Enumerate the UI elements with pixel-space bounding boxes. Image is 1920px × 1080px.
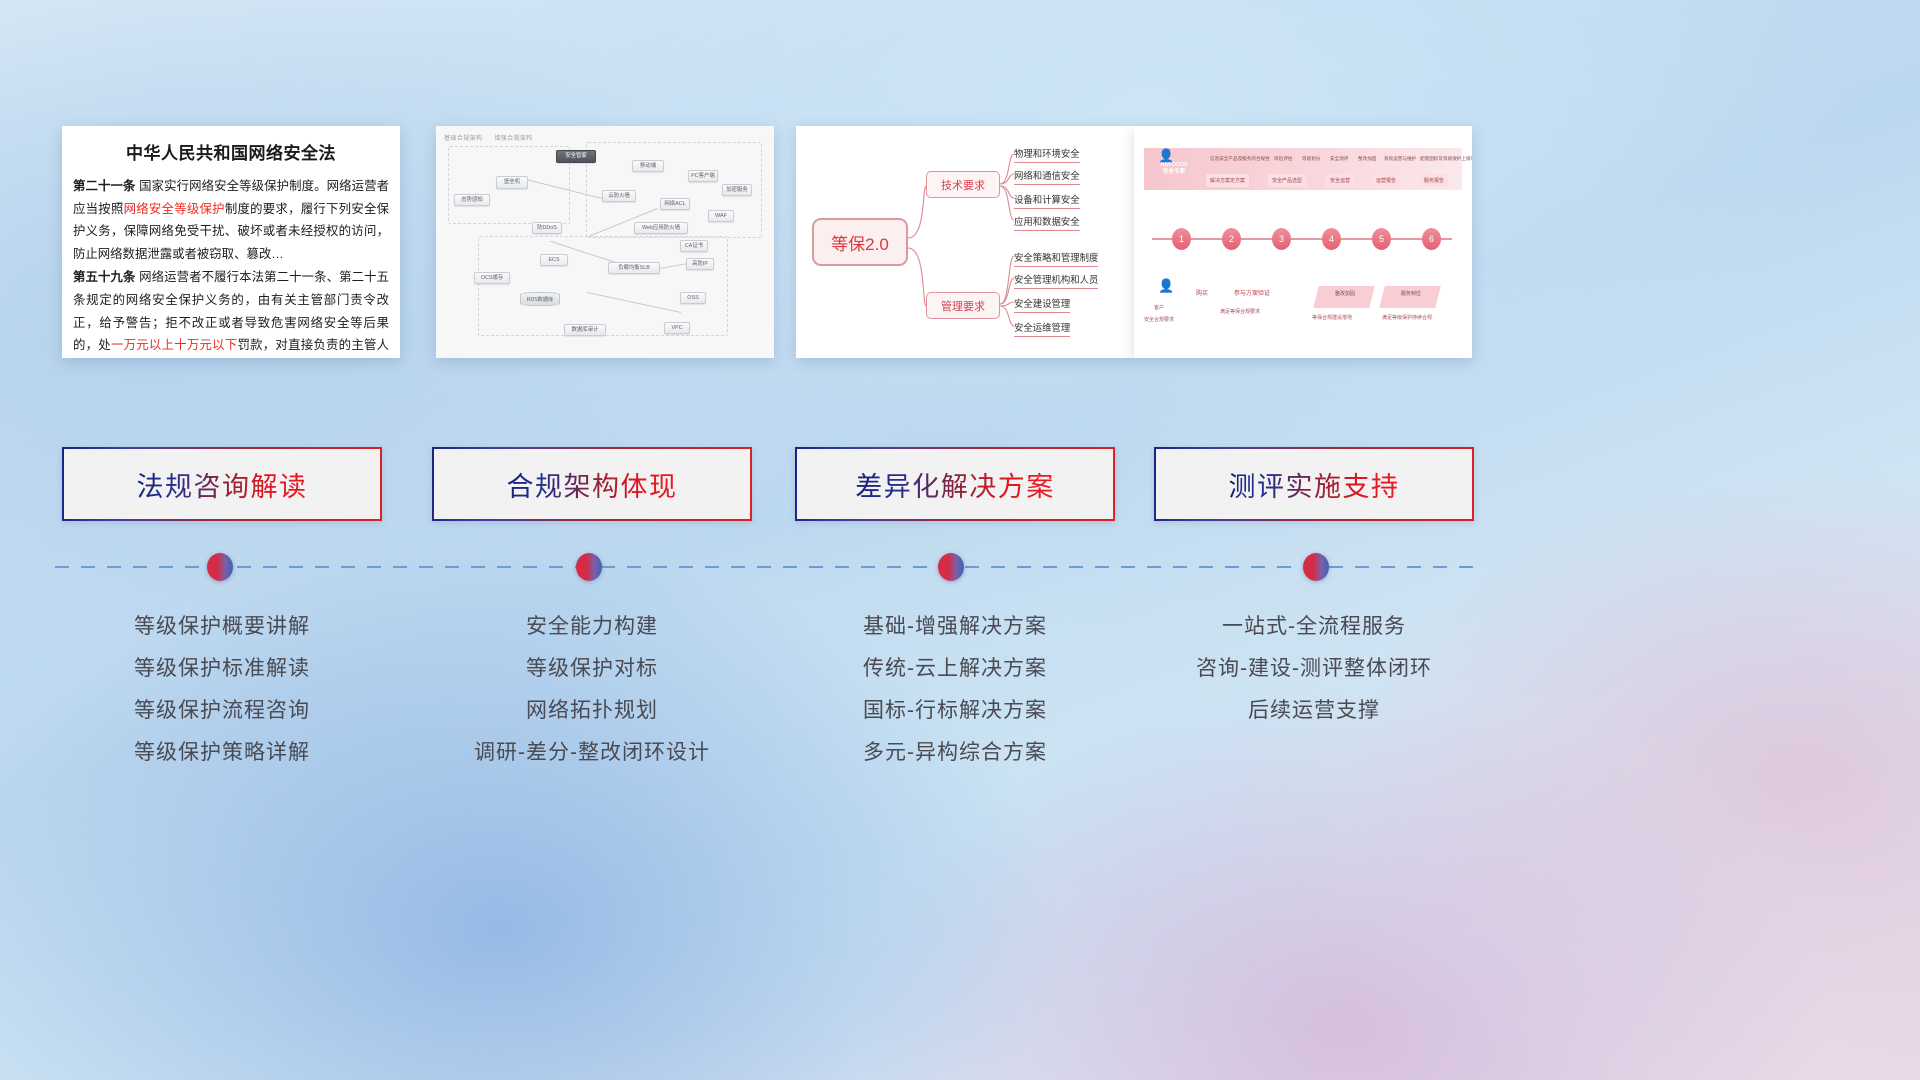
detail-item: 等级保护概要讲解 [42,606,402,648]
timeline-dot-4[interactable] [1303,553,1329,581]
headline-label-2: 差异化解决方案 [855,465,1055,504]
roadmap-action-rectify: 整改加固 [1317,286,1373,301]
arch-node-anti-ddos-ip: 高防IP [686,258,714,270]
article-21-highlight: 网络安全等级保护 [124,202,225,216]
mindmap-leaf-physical: 物理和环境安全 [1014,146,1080,163]
detail-column-4: 一站式-全流程服务 咨询-建设-测评整体闭环 后续运营支撑 [1134,606,1494,732]
customer-person-icon: 👤 [1158,278,1174,294]
mindmap-leaf-ops: 安全运维管理 [1014,320,1070,337]
detail-item: 国标-行标解决方案 [775,690,1135,732]
roadmap-action-participate: 参与方案验证 [1234,288,1270,297]
detail-item: 传统-云上解决方案 [775,648,1135,690]
detail-item: 等级保护流程咨询 [42,690,402,732]
detail-item: 调研-差分-整改闭环设计 [412,732,772,774]
arch-node-rds: RDS数据库 [520,292,560,306]
detail-item: 一站式-全流程服务 [1134,606,1494,648]
timeline-dot-1[interactable] [207,553,233,581]
roadmap-step-5: 5 [1372,228,1391,250]
roadmap-step-3: 3 [1272,228,1291,250]
arch-node-mobile: 移动端 [632,160,664,172]
roadmap-diagram: 👤 NSFOCUS 安全专家 信息安全产品及服务的合规性 风险评估 等级划分 安… [1134,126,1472,358]
arch-node-db-audit: 数据库审计 [564,324,606,336]
arch-node-slb: 负载均衡SLB [608,262,660,274]
detail-item: 咨询-建设-测评整体闭环 [1134,648,1494,690]
timeline-dashed-line [55,566,1485,568]
band-label-1: 增强合规架构 [494,136,532,142]
headline-label-0: 法规咨询解读 [137,465,308,504]
reference-cards-row: 中华人民共和国网络安全法 第二十一条 国家实行网络安全等级保护制度。网络运营者应… [0,126,1920,362]
roadmap-bottom-right-sub-1: 满足等级保护持续合规 [1382,314,1432,321]
roadmap-para-rectify: 整改加固 [1313,286,1374,308]
nsfocus-logo-name: NSFOCUS [1160,162,1187,169]
roadmap-axis [1152,238,1452,240]
headline-box-differentiated-solution[interactable]: 差异化解决方案 [795,447,1115,521]
law-body: 第二十一条 国家实行网络安全等级保护制度。网络运营者应当按照网络安全等级保护制度… [73,175,389,358]
roadmap-action-service: 服务到位 [1383,286,1439,301]
band-label-0: 基础合规架构 [444,136,482,142]
arch-node-cloud-firewall: 云防火墙 [602,190,636,202]
card-cloud-architecture[interactable]: 基础合规架构增强合规架构 安全管家 堡垒机 态势感知 网络ACL 云防火墙 WA… [436,126,774,358]
headline-label-3: 测评实施支持 [1229,465,1400,504]
mindmap-branch-technical: 技术要求 [926,171,1000,198]
roadmap-customer-sub: 安全合规要求 [1144,316,1174,323]
roadmap-step-1: 1 [1172,228,1191,250]
mindmap-diagram: 等保2.0 技术要求 管理要求 物理和环境安全 网络和通信安全 设备和计算安全 … [796,126,1134,358]
mindmap-leaf-network: 网络和通信安全 [1014,168,1080,185]
law-title: 中华人民共和国网络安全法 [62,139,400,164]
mindmap-leaf-device: 设备和计算安全 [1014,192,1080,209]
arch-node-situation: 态势感知 [454,194,490,206]
detail-item: 等级保护策略详解 [42,732,402,774]
roadmap-action-buy: 购买 [1196,288,1208,297]
headline-box-compliance-architecture[interactable]: 合规架构体现 [432,447,752,521]
arch-node-vpc: VPC [664,322,690,334]
headline-box-regulation-consulting[interactable]: 法规咨询解读 [62,447,382,521]
roadmap-phase-2: 安全运营 [1326,174,1354,187]
arch-node-bastion: 堡垒机 [496,176,528,189]
law-article-21: 第二十一条 国家实行网络安全等级保护制度。网络运营者应当按照网络安全等级保护制度… [73,175,389,265]
mindmap-root: 等保2.0 [812,218,908,266]
card-cybersecurity-law[interactable]: 中华人民共和国网络安全法 第二十一条 国家实行网络安全等级保护制度。网络运营者应… [62,126,400,358]
roadmap-top-label-6: 配套国标及等级保护上级单位的合规性 [1420,156,1472,162]
detail-item: 等级保护对标 [412,648,772,690]
detail-column-1: 等级保护概要讲解 等级保护标准解读 等级保护流程咨询 等级保护策略详解 [42,606,402,774]
roadmap-step-2: 2 [1222,228,1241,250]
law-article-59: 第五十九条 网络运营者不履行本法第二十一条、第二十五条规定的网络安全保护义务的，… [73,266,389,358]
architecture-band-labels: 基础合规架构增强合规架构 [444,133,545,142]
roadmap-bottom-left-sub: 满足等保合规要求 [1220,308,1260,315]
detail-column-2: 安全能力构建 等级保护对标 网络拓扑规划 调研-差分-整改闭环设计 [412,606,772,774]
roadmap-top-label-0: 信息安全产品及服务的合规性 [1210,156,1270,162]
roadmap-top-label-5: 系统运营与维护 [1384,156,1416,162]
detail-item: 网络拓扑规划 [412,690,772,732]
roadmap-para-service: 服务到位 [1379,286,1440,308]
arch-node-waf-short: WAF [708,210,734,222]
roadmap-phase-1: 安全产品选型 [1268,174,1306,187]
roadmap-step-4: 4 [1322,228,1341,250]
roadmap-customer-label: 客户 [1154,304,1164,311]
detail-item: 后续运营支撑 [1134,690,1494,732]
timeline-dot-2[interactable] [576,553,602,581]
arch-node-oss: OSS [680,292,706,304]
card-mindmap-dengbao[interactable]: 等保2.0 技术要求 管理要求 物理和环境安全 网络和通信安全 设备和计算安全 … [796,126,1134,358]
timeline [55,566,1485,569]
timeline-dot-3[interactable] [938,553,964,581]
roadmap-top-label-4: 整改加固 [1358,156,1376,162]
detail-item: 安全能力构建 [412,606,772,648]
detail-item: 多元-异构综合方案 [775,732,1135,774]
article-59-label: 第五十九条 [73,270,136,284]
roadmap-bottom-right-sub-0: 等保合规建设落地 [1312,314,1352,321]
mindmap-branch-management: 管理要求 [926,292,1000,319]
roadmap-step-6: 6 [1422,228,1441,250]
arch-node-ecs: ECS [540,254,568,266]
roadmap-top-label-2: 等级划分 [1302,156,1320,162]
arch-node-encryption: 加密服务 [722,184,752,196]
article-21-label: 第二十一条 [73,179,136,193]
roadmap-top-label-3: 安全测评 [1330,156,1348,162]
headline-label-1: 合规架构体现 [507,465,678,504]
roadmap-phase-4: 服务报告 [1420,174,1448,187]
detail-column-3: 基础-增强解决方案 传统-云上解决方案 国标-行标解决方案 多元-异构综合方案 [775,606,1135,774]
arch-node-web-app-firewall: Web应用防火墙 [634,222,688,234]
nsfocus-logo: NSFOCUS 安全专家 [1148,152,1200,186]
arch-node-ca-cert: CA证书 [680,240,708,252]
arch-node-anti-ddos: 防DDoS [532,222,562,234]
arch-node-security-butler: 安全管家 [556,150,596,163]
arch-node-ocs-cache: OCS缓存 [474,272,510,284]
mindmap-leaf-policy: 安全策略和管理制度 [1014,250,1098,267]
mindmap-leaf-org: 安全管理机构和人员 [1014,272,1098,289]
roadmap-phase-3: 运营报告 [1372,174,1400,187]
arch-node-pc-client: PC客户端 [688,170,718,182]
roadmap-phase-0: 解决方案定方案 [1206,174,1249,187]
card-nsfocus-roadmap[interactable]: 👤 NSFOCUS 安全专家 信息安全产品及服务的合规性 风险评估 等级划分 安… [1134,126,1472,358]
roadmap-top-label-1: 风险评估 [1274,156,1292,162]
mindmap-leaf-application: 应用和数据安全 [1014,214,1080,231]
slide-canvas: 中华人民共和国网络安全法 第二十一条 国家实行网络安全等级保护制度。网络运营者应… [0,0,1920,1080]
mindmap-leaf-construction: 安全建设管理 [1014,296,1070,313]
article-59-highlight-1: 一万元以上十万元以下 [111,338,238,352]
detail-item: 基础-增强解决方案 [775,606,1135,648]
headline-box-assessment-support[interactable]: 测评实施支持 [1154,447,1474,521]
arch-node-network-acl: 网络ACL [660,198,690,210]
detail-item: 等级保护标准解读 [42,648,402,690]
architecture-diagram: 基础合规架构增强合规架构 安全管家 堡垒机 态势感知 网络ACL 云防火墙 WA… [436,126,774,358]
nsfocus-logo-sub: 安全专家 [1163,169,1185,176]
